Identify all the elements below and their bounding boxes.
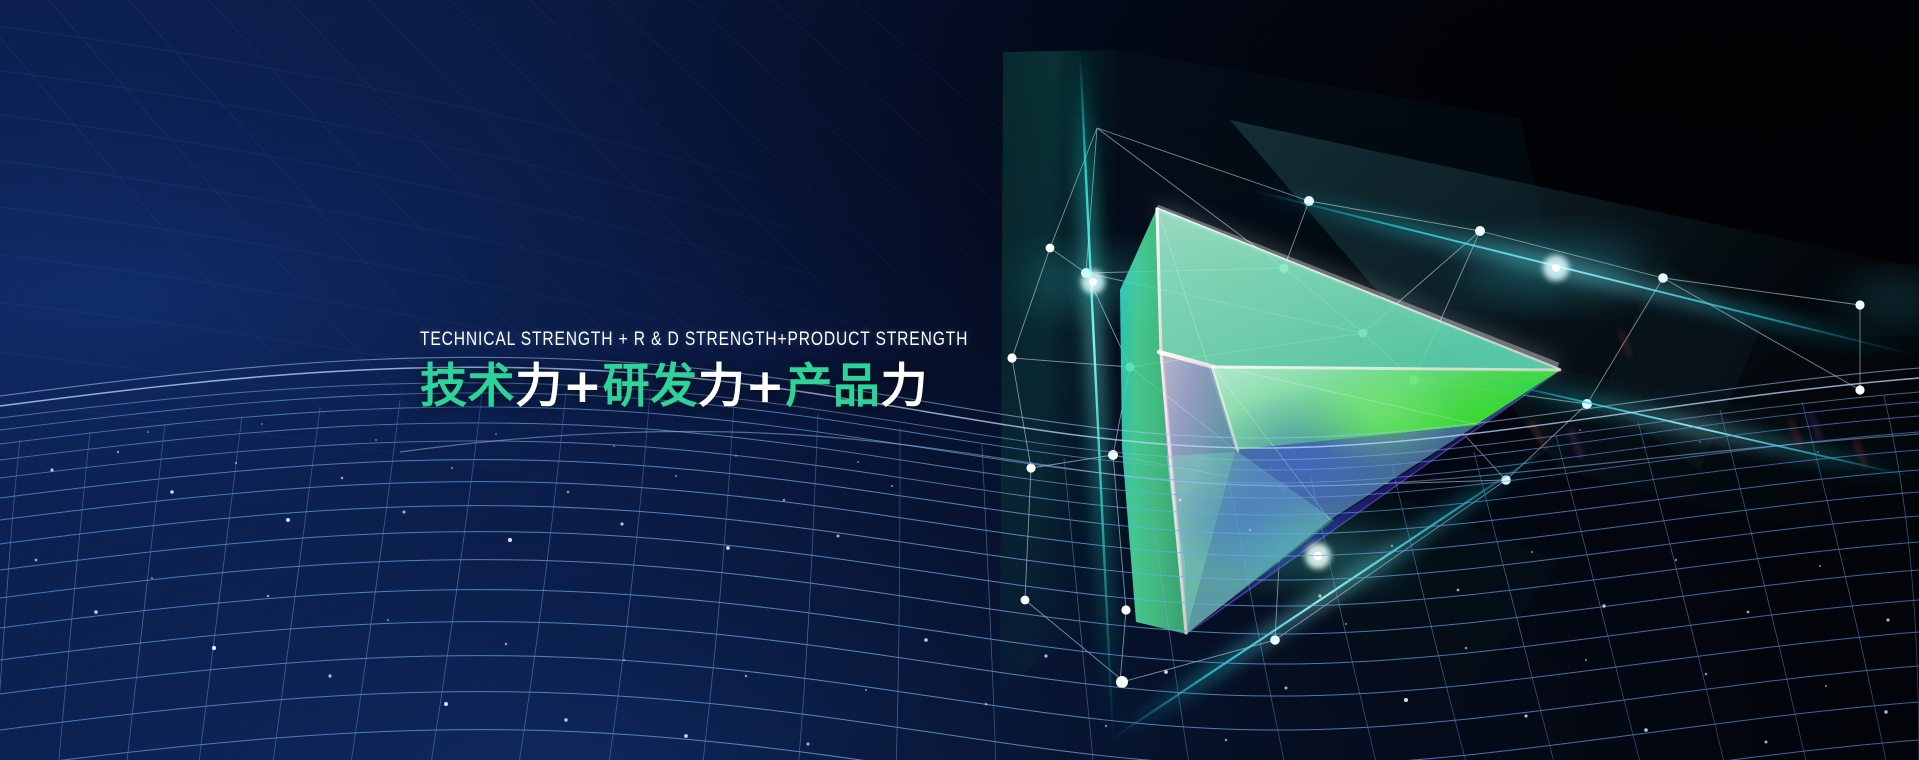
headline-segment-5: 力 — [698, 359, 746, 414]
eyebrow-text: TECHNICAL STRENGTH + R & D STRENGTH+PROD… — [420, 330, 968, 350]
headline-segment-2: 力 — [515, 359, 563, 414]
headline-segment-3: + — [563, 359, 603, 414]
hero-copy-block: TECHNICAL STRENGTH + R & D STRENGTH+PROD… — [420, 330, 1105, 414]
headline-segment-1: 技术 — [420, 359, 515, 414]
hero-banner: TECHNICAL STRENGTH + R & D STRENGTH+PROD… — [0, 0, 1919, 760]
page-title: 技术力+研发力+产品力 — [420, 359, 1105, 414]
headline-segment-6: + — [745, 359, 785, 414]
headline-segment-7: 产品 — [785, 359, 880, 414]
headline-segment-4: 研发 — [603, 359, 698, 414]
headline-segment-8: 力 — [880, 359, 928, 414]
